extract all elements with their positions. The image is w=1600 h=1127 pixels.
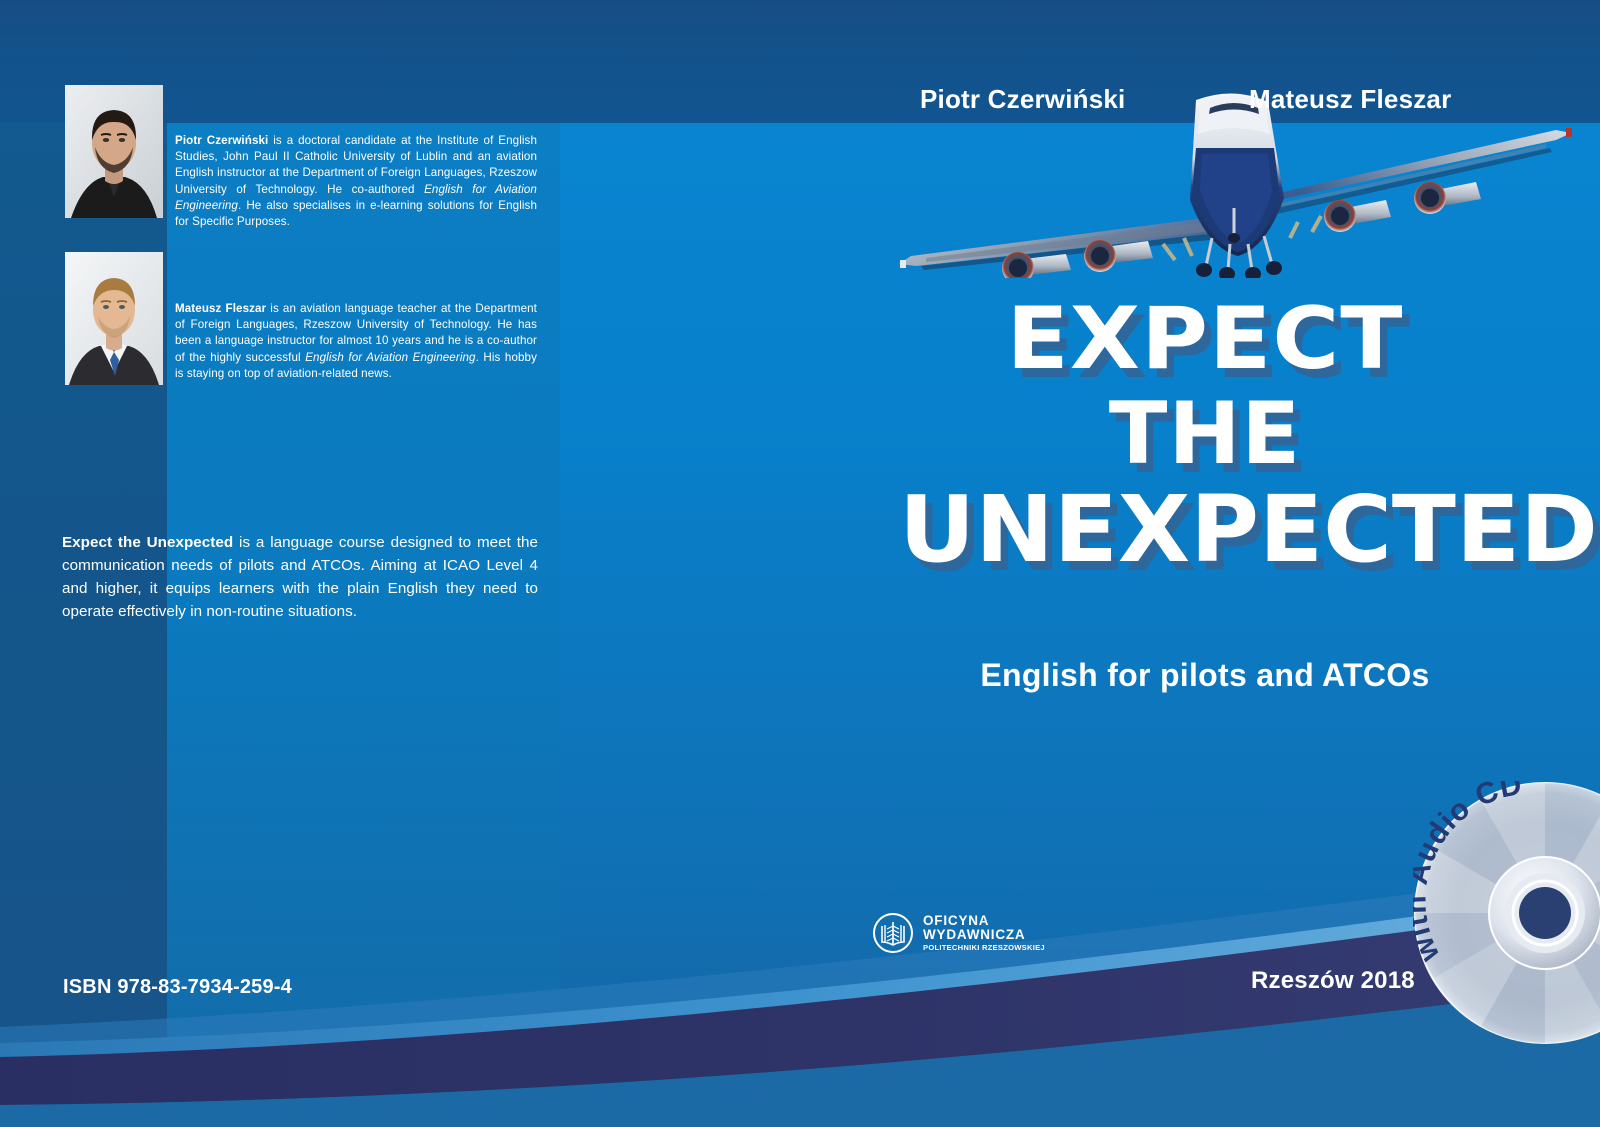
publisher-line-3: POLITECHNIKI RZESZOWSKIEJ [923, 944, 1045, 952]
bio-2-name: Mateusz Fleszar [175, 302, 266, 315]
author-bio-1: Piotr Czerwiński is a doctoral candidate… [175, 133, 537, 230]
airplane-photo [866, 88, 1600, 278]
open-book-wheat-icon [872, 912, 914, 954]
publisher-line-2: WYDAWNICZA [923, 928, 1045, 943]
author-name-2: Mateusz Fleszar [1249, 84, 1451, 115]
title-line-3: UNEXPECTED [899, 488, 1511, 573]
bio-2-italic-title: English for Aviation Engineering [305, 351, 475, 364]
isbn-text: ISBN 978-83-7934-259-4 [63, 976, 292, 999]
author-portrait-2 [65, 252, 163, 385]
bio-1-name: Piotr Czerwiński [175, 134, 268, 147]
author-name-1: Piotr Czerwiński [920, 84, 1125, 115]
title-line-1: EXPECT [887, 300, 1523, 379]
author-portrait-1 [65, 85, 163, 218]
title-line-2: THE [905, 395, 1505, 474]
book-subtitle: English for pilots and ATCOs [905, 657, 1505, 694]
book-title: EXPECT THE UNEXPECTED [905, 300, 1505, 573]
publisher-line-1: OFICYNA [923, 914, 1045, 929]
author-bio-2: Mateusz Fleszar is an aviation language … [175, 301, 537, 382]
audio-cd-badge: with Audio CD [1413, 781, 1600, 1045]
blurb-lead: Expect the Unexpected [62, 534, 233, 551]
publisher-text: OFICYNA WYDAWNICZA POLITECHNIKI RZESZOWS… [923, 914, 1045, 952]
place-and-year: Rzeszów 2018 [1251, 967, 1415, 995]
book-cover: Piotr Czerwiński Mateusz Fleszar EXPECT … [0, 0, 1600, 1127]
publisher-logo: OFICYNA WYDAWNICZA POLITECHNIKI RZESZOWS… [872, 912, 1045, 954]
back-cover-blurb: Expect the Unexpected is a language cour… [62, 531, 538, 623]
